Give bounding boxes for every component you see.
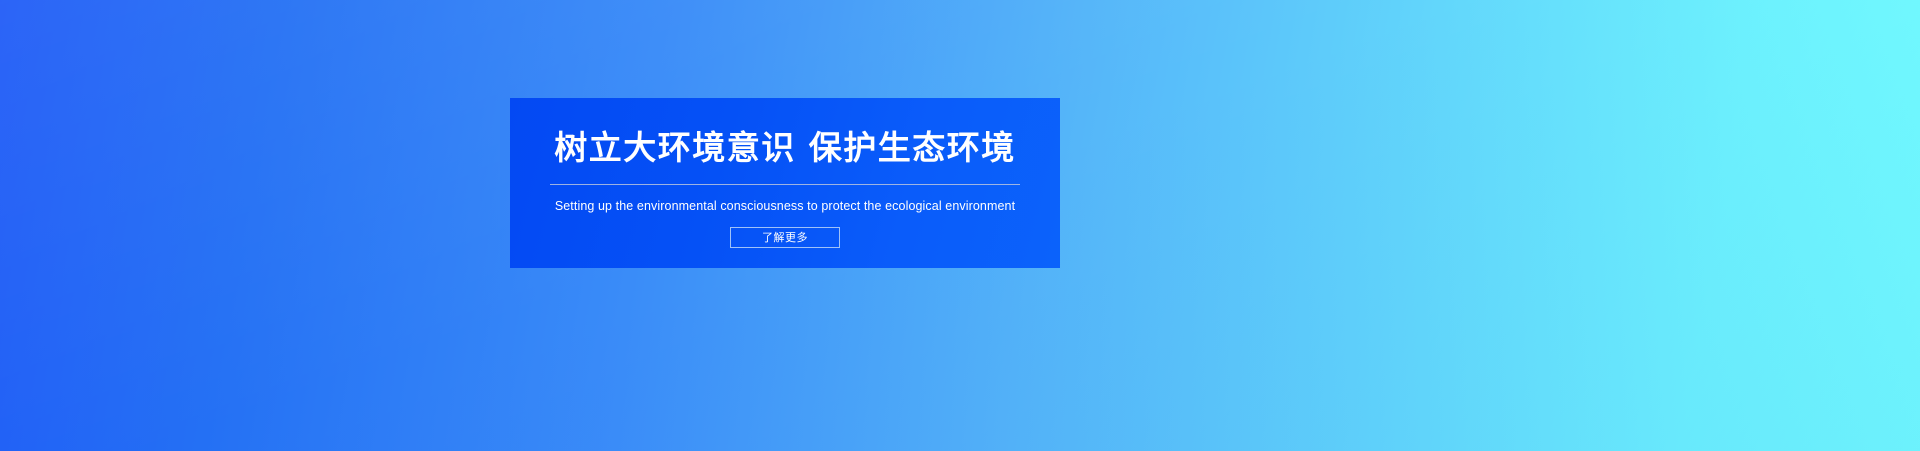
page-subtitle: Setting up the environmental consciousne… [555,200,1015,213]
page-title: 树立大环境意识 保护生态环境 [554,131,1016,164]
title-divider [550,184,1020,185]
learn-more-button[interactable]: 了解更多 [730,227,840,248]
hero-card: 树立大环境意识 保护生态环境 Setting up the environmen… [510,98,1060,268]
hero-banner: 树立大环境意识 保护生态环境 Setting up the environmen… [0,0,1920,451]
